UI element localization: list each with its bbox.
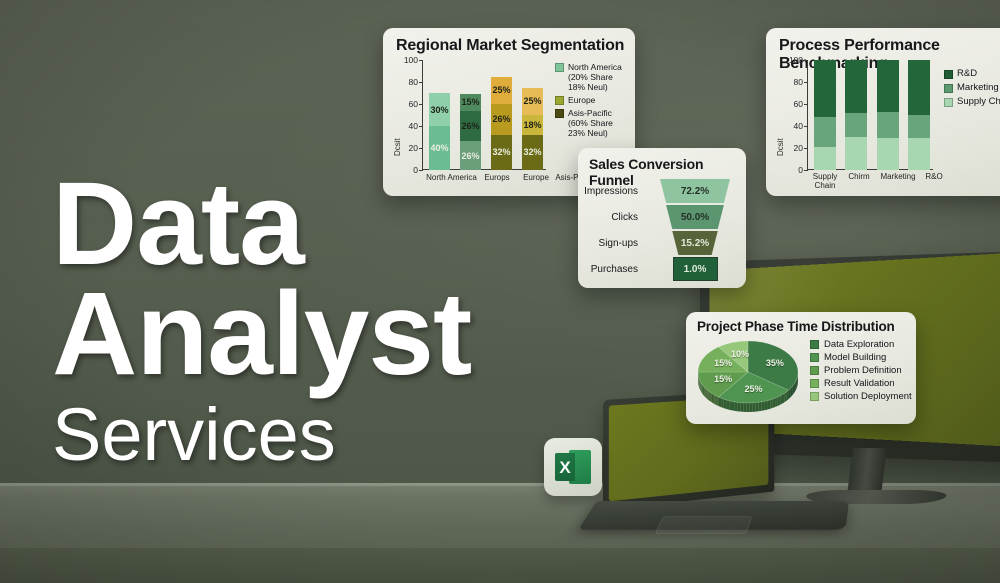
pie-slice-side: [735, 402, 738, 411]
pie-slice-value: 15%: [712, 358, 734, 368]
process-y-tick: 60: [783, 99, 803, 109]
laptop-keyboard-base: [578, 501, 849, 530]
pie-slice-side: [750, 403, 753, 412]
pie-slice-side: [717, 396, 718, 406]
card-process-performance-benchmarking: Process Performance Benchmarking Dcsit 0…: [766, 28, 1000, 196]
card-title-regional: Regional Market Segmentation: [396, 37, 624, 55]
regional-stacked-bar: 40%30%: [429, 60, 450, 170]
pie-slice-side: [701, 382, 702, 392]
process-legend-label: Marketing: [957, 82, 999, 93]
pie-slice-side: [759, 402, 762, 411]
pie-slice-value: 15%: [712, 374, 734, 384]
pie-slice-side: [721, 398, 724, 408]
process-legend-item: Marketing: [944, 82, 1000, 93]
process-y-tick: 80: [783, 77, 803, 87]
process-y-tick: 40: [783, 121, 803, 131]
hero-line-1: Data: [52, 170, 612, 280]
pie-slice-side: [732, 401, 735, 411]
card-title-pie: Project Phase Time Distribution: [697, 319, 895, 334]
process-x-label: R&O: [921, 173, 947, 182]
process-bar-segment: [845, 137, 867, 170]
pie-legend-item: Solution Deployment: [810, 391, 914, 402]
hero-line-2: Analyst: [52, 280, 612, 390]
funnel-segment-wrap: 1.0%: [644, 256, 746, 282]
regional-legend-label: Asis-Pacific (60% Share 23% Neul): [568, 108, 613, 138]
process-legend-item: Supply Chain: [944, 96, 1000, 107]
funnel-segment: 1.0%: [673, 257, 718, 281]
process-bar-segment: [845, 113, 867, 137]
pie-slice-side: [711, 393, 712, 403]
process-bar-segment: [845, 60, 867, 113]
process-y-tick: 20: [783, 143, 803, 153]
process-legend-swatch: [944, 98, 953, 107]
pie-slice-side: [765, 401, 768, 411]
pie-legend-label: Model Building: [824, 352, 886, 363]
pie-slice-side: [753, 403, 756, 412]
card-project-phase-time-distribution: Project Phase Time Distribution 35%25%15…: [686, 312, 916, 424]
pie-slice-side: [729, 401, 732, 411]
pie-legend-swatch: [810, 392, 819, 401]
regional-stacked-bar: 26%26%15%: [460, 60, 481, 170]
process-legend-label: Supply Chain: [957, 96, 1000, 107]
regional-bar-segment: 25%: [491, 77, 512, 105]
regional-bar-segment: 30%: [429, 93, 450, 126]
pie-legend-item: Model Building: [810, 352, 914, 363]
pie-slice-side: [775, 397, 777, 407]
process-bar-segment: [908, 115, 930, 138]
regional-bar-segment: 40%: [429, 126, 450, 170]
pie-slice-side: [703, 386, 704, 396]
funnel-segment: 72.2%: [660, 179, 730, 203]
pie-slice-side: [702, 384, 703, 394]
regional-bar-segment: 32%: [491, 135, 512, 170]
pie-slice-side: [780, 394, 782, 404]
pie-slice-side: [770, 399, 773, 409]
pie-slice-value: 35%: [764, 358, 786, 368]
regional-legend-label: Europe: [568, 95, 595, 105]
process-bar-segment: [908, 60, 930, 115]
funnel-segment-wrap: 50.0%: [644, 204, 746, 230]
regional-legend-swatch: [555, 63, 564, 72]
pie-legend-swatch: [810, 366, 819, 375]
process-x-label: Supply Chain: [807, 173, 843, 191]
regional-y-tick: 20: [398, 143, 418, 153]
hero-headline: Data Analyst Services: [52, 170, 612, 475]
pie-chart: 35%25%15%15%10%: [696, 338, 806, 418]
pie-legend-item: Data Exploration: [810, 339, 914, 350]
pie-legend-item: Result Validation: [810, 378, 914, 389]
funnel-segment-wrap: 72.2%: [644, 178, 746, 204]
process-stacked-bar: [845, 60, 867, 170]
regional-legend-swatch: [555, 109, 564, 118]
process-stacked-bar: [908, 60, 930, 170]
regional-bar-segment: 25%: [522, 88, 543, 116]
process-bar-segment: [814, 147, 836, 170]
process-legend-item: R&D: [944, 68, 1000, 79]
regional-y-tick: 100: [398, 55, 418, 65]
process-y-tick: 100: [783, 55, 803, 65]
pie-legend-label: Problem Definition: [824, 365, 902, 376]
pie-slice-side: [767, 400, 770, 410]
regional-bar-segment: 26%: [491, 104, 512, 135]
pie-slice-side: [716, 396, 717, 406]
regional-bar-segment: 26%: [460, 141, 481, 170]
regional-bar-segment: 32%: [522, 135, 543, 170]
regional-legend-swatch: [555, 96, 564, 105]
process-stacked-bar: [877, 60, 899, 170]
regional-legend-item: Europe: [555, 95, 631, 105]
pie-slice-side: [705, 388, 706, 398]
pie-slice-side: [778, 396, 780, 406]
process-bar-segment: [877, 138, 899, 170]
pie-slice-side: [708, 391, 709, 401]
pie-slice-side: [714, 395, 715, 405]
pie-slice-side: [724, 399, 727, 409]
regional-bars: 40%30%26%26%15%32%26%25%32%18%25%: [424, 60, 548, 170]
pie-slice-side: [703, 385, 704, 395]
regional-y-tick: 60: [398, 99, 418, 109]
pie-slice-side: [738, 402, 741, 411]
pie-slice-value: 25%: [743, 384, 765, 394]
pie-legend: Data ExplorationModel BuildingProblem De…: [810, 339, 914, 404]
regional-y-tick: 80: [398, 77, 418, 87]
process-legend-label: R&D: [957, 68, 977, 79]
pie-legend-label: Result Validation: [824, 378, 895, 389]
pie-slice-side: [712, 393, 713, 403]
regional-legend-item: Asis-Pacific (60% Share 23% Neul): [555, 108, 631, 138]
pie-legend-label: Solution Deployment: [824, 391, 912, 402]
process-bar-segment: [814, 60, 836, 117]
pie-slice-side: [762, 401, 765, 411]
pie-slice-side: [713, 394, 714, 404]
pie-slice-side: [709, 392, 710, 402]
pie-slice-side: [719, 397, 721, 407]
regional-legend-item: North America (20% Share 18% Neul): [555, 62, 631, 92]
pie-slice-side: [747, 403, 750, 412]
process-bar-segment: [877, 60, 899, 112]
pie-slice-side: [744, 403, 747, 412]
process-legend: R&DMarketingSupply Chain: [944, 68, 1000, 111]
pie-slice-side: [756, 402, 759, 411]
regional-bar-segment: 26%: [460, 111, 481, 142]
pie-slice-side: [704, 387, 705, 397]
process-x-label: Marketing: [876, 173, 920, 182]
regional-legend-label: North America (20% Share 18% Neul): [568, 62, 622, 92]
pie-slice-side: [741, 403, 744, 412]
laptop-trackpad: [655, 516, 753, 534]
regional-legend: North America (20% Share 18% Neul)Europe…: [555, 62, 631, 141]
funnel-segment: 50.0%: [666, 205, 724, 229]
pie-legend-swatch: [810, 353, 819, 362]
pie-slice-value: 10%: [729, 349, 751, 359]
pie-legend-label: Data Exploration: [824, 339, 894, 350]
process-bar-segment: [814, 117, 836, 147]
process-bar-segment: [877, 112, 899, 138]
pie-legend-swatch: [810, 379, 819, 388]
pie-slice-side: [707, 390, 708, 400]
funnel-segment: 15.2%: [672, 231, 718, 255]
pie-slice-side: [706, 389, 707, 399]
funnel-segment-wrap: 15.2%: [644, 230, 746, 256]
process-stacked-bar: [814, 60, 836, 170]
regional-stacked-bar: 32%18%25%: [522, 60, 543, 170]
pie-legend-swatch: [810, 340, 819, 349]
process-legend-swatch: [944, 84, 953, 93]
regional-bar-segment: 18%: [522, 115, 543, 135]
process-legend-swatch: [944, 70, 953, 79]
hero-line-3: Services: [52, 395, 612, 475]
regional-bar-segment: 15%: [460, 94, 481, 111]
process-y-tick: 0: [783, 165, 803, 175]
poster-canvas: Data Analyst Services X Regional Market …: [0, 0, 1000, 583]
pie-slice-side: [773, 398, 776, 408]
process-x-label: Chirm: [842, 173, 876, 182]
regional-stacked-bar: 32%26%25%: [491, 60, 512, 170]
pie-legend-item: Problem Definition: [810, 365, 914, 376]
regional-y-tick: 40: [398, 121, 418, 131]
desk-front-panel: [0, 548, 1000, 583]
pie-slice-side: [701, 383, 702, 393]
process-bar-segment: [908, 138, 930, 170]
pie-slice-side: [726, 400, 729, 410]
process-bars: [809, 60, 935, 170]
